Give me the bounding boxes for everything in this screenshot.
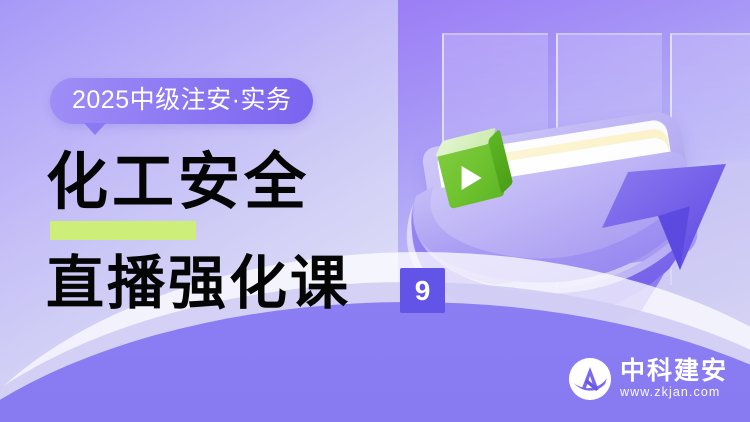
course-tag-badge: 2025中级注安·实务 [50, 78, 313, 124]
title-highlight-bar [50, 221, 196, 240]
title-line-2: 直播强化课 [46, 253, 351, 316]
brand-text-block: 中科建安 www.zkjan.com [620, 359, 728, 399]
course-banner: 2025中级注安·实务 化工安全 直播强化课 9 中科建安 www.zkjan.… [0, 0, 750, 422]
episode-number-badge: 9 [400, 268, 445, 313]
zkjan-circle-logo-icon [569, 358, 611, 400]
brand-logo: 中科建安 www.zkjan.com [569, 358, 728, 400]
brand-name: 中科建安 [620, 359, 728, 384]
brand-url: www.zkjan.com [620, 386, 728, 399]
title-line-1: 化工安全 [46, 150, 310, 217]
copy-block: 2025中级注安·实务 化工安全 直播强化课 9 [0, 0, 470, 422]
